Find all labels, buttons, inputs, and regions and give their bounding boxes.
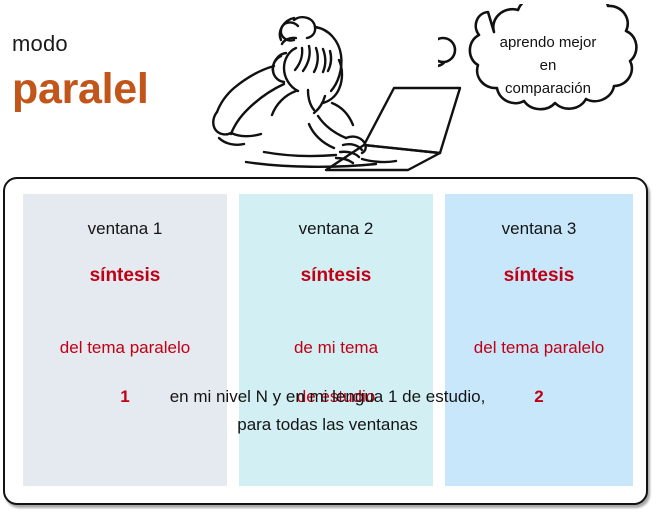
- column-3-synthesis: síntesis: [445, 266, 633, 285]
- window-column-1: ventana 1 síntesis del tema paralelo 1: [23, 194, 227, 486]
- column-1-description-line2: 1: [120, 387, 129, 406]
- column-2-synthesis: síntesis: [239, 266, 433, 285]
- mode-label: modo: [12, 33, 68, 55]
- column-3-description-line1: del tema paralelo: [474, 338, 604, 357]
- column-1-description-line1: del tema paralelo: [60, 338, 190, 357]
- column-1-title: ventana 1: [23, 220, 227, 237]
- column-1-synthesis: síntesis: [23, 266, 227, 285]
- thought-dot-5: [438, 38, 455, 62]
- column-2-description: de mi tema de estudio: [239, 311, 433, 410]
- column-2-description-line1: de mi tema: [294, 338, 378, 357]
- column-2-title: ventana 2: [239, 220, 433, 237]
- column-3-title: ventana 3: [445, 220, 633, 237]
- thought-bubble-text: aprendo mejor en comparación: [462, 32, 634, 100]
- parallel-mode-frame: ventana 1 síntesis del tema paralelo 1 v…: [3, 177, 648, 505]
- column-1-description: del tema paralelo 1: [23, 311, 227, 410]
- column-2-description-line2: de estudio: [297, 387, 375, 406]
- column-3-description-line2: 2: [534, 387, 543, 406]
- person-studying-at-laptop-illustration: [212, 4, 462, 176]
- header-area: modo paralel: [0, 0, 657, 175]
- mode-value: paralel: [12, 68, 149, 111]
- window-column-3: ventana 3 síntesis del tema paralelo 2: [445, 194, 633, 486]
- window-column-2: ventana 2 síntesis de mi tema de estudio: [239, 194, 433, 486]
- column-3-description: del tema paralelo 2: [445, 311, 633, 410]
